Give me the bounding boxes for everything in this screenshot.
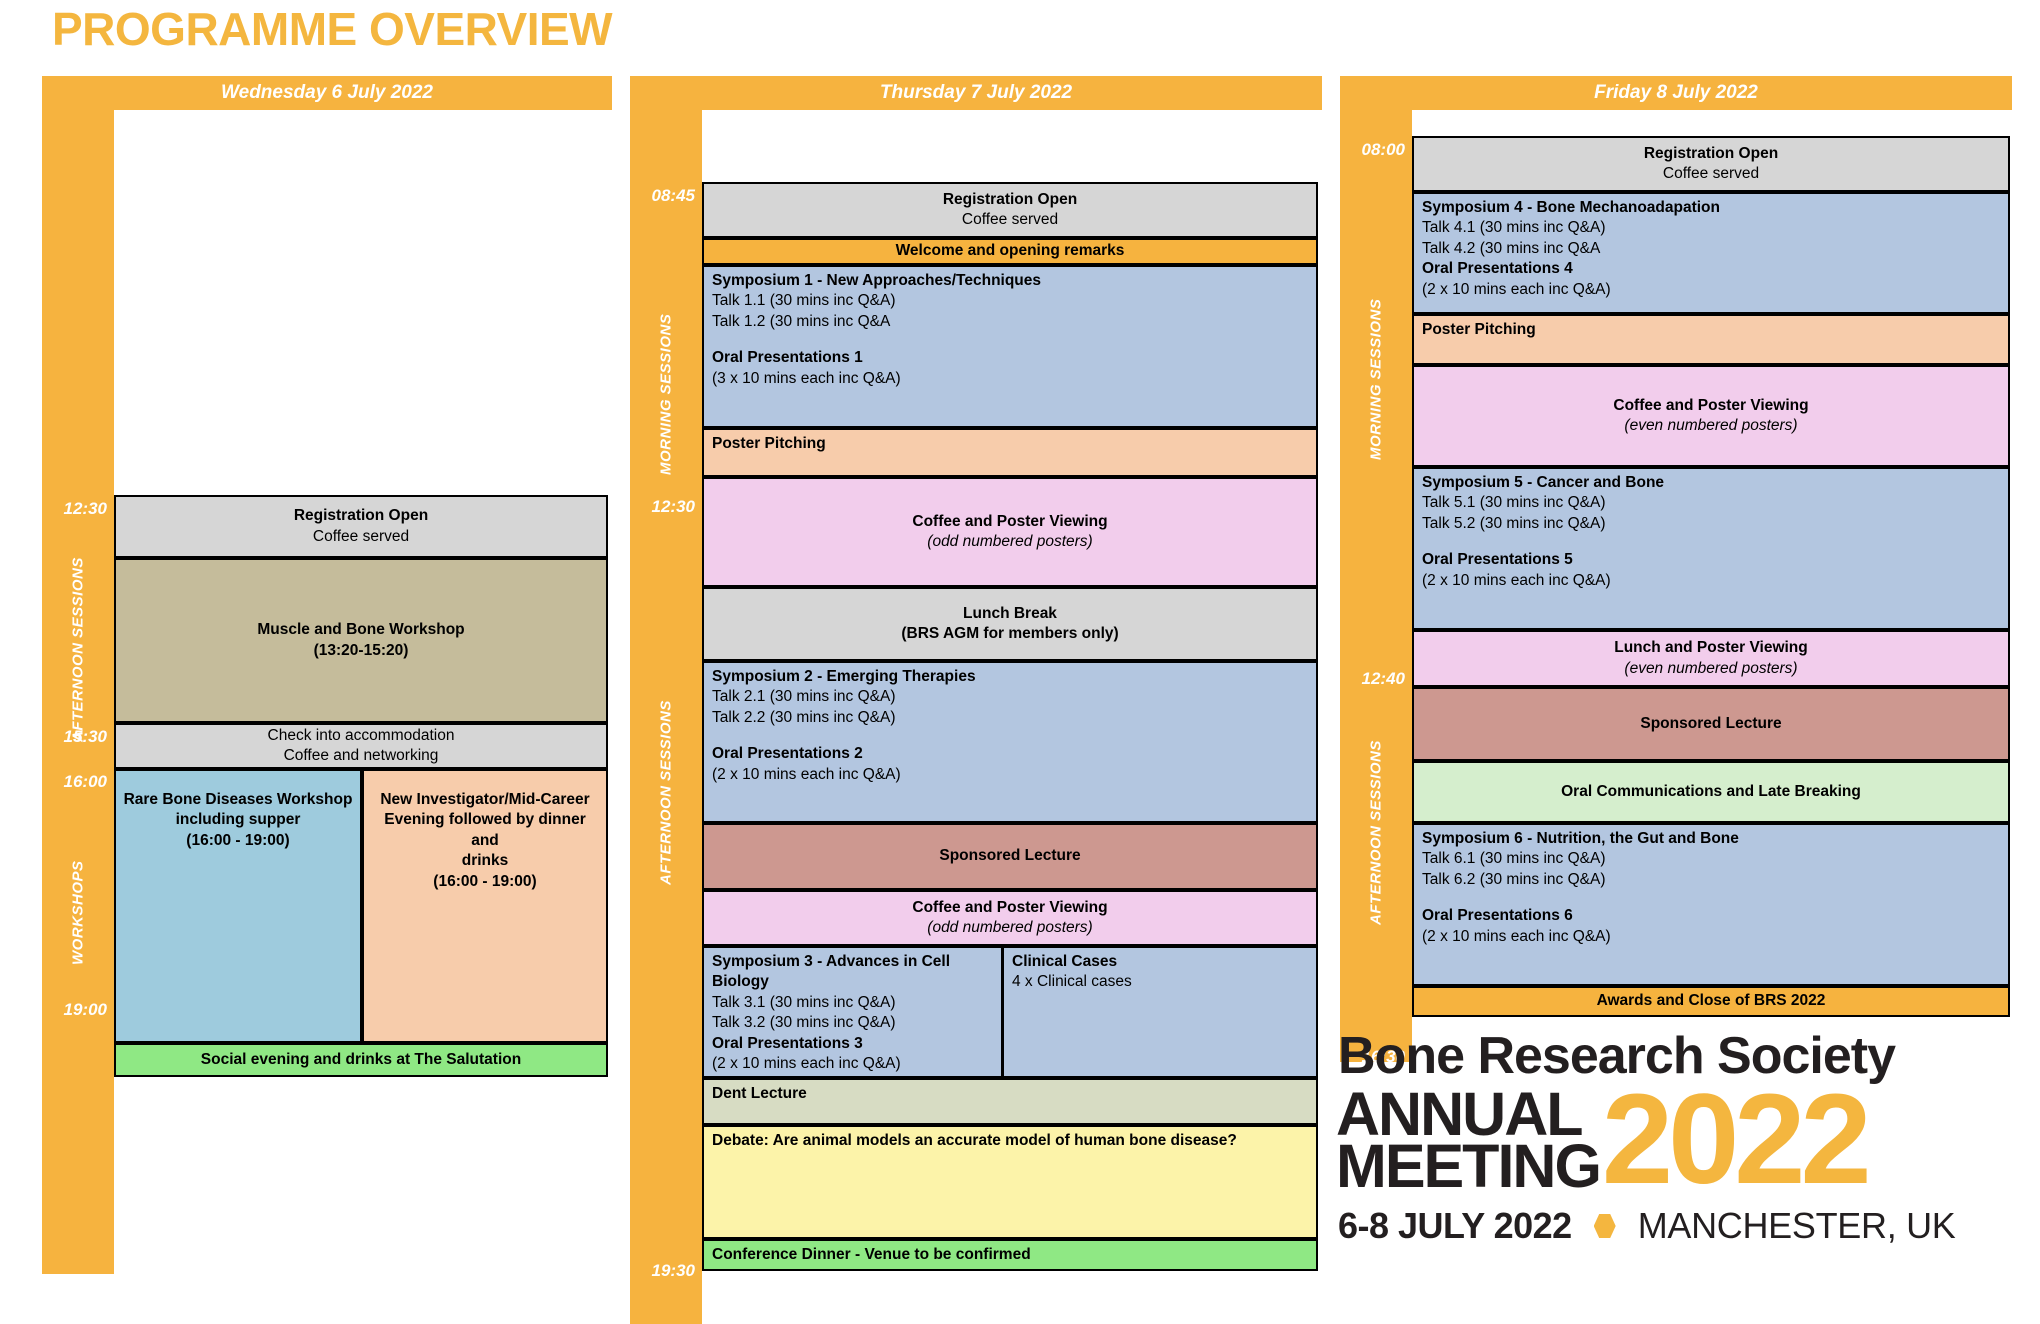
session-debate[interactable]: Debate: Are animal models an accurate mo… — [702, 1125, 1318, 1239]
session-talk-2: Talk 3.2 (30 mins inc Q&A) — [712, 1013, 995, 1033]
session-oral-title: Oral Presentations 4 — [1422, 259, 2002, 279]
session-title: Symposium 4 - Bone Mechanoadapation — [1422, 198, 2002, 218]
rail-label-afternoon-sessions: AFTERNOON SESSIONS — [1368, 730, 1385, 925]
session-rare-bone-diseases-workshop[interactable]: Rare Bone Diseases Workshop including su… — [114, 769, 362, 1043]
time-mark: 16:00 — [64, 772, 107, 792]
session-title: Sponsored Lecture — [939, 846, 1080, 866]
session-talk-1: Talk 4.1 (30 mins inc Q&A) — [1422, 218, 2002, 238]
session-title: Muscle and Bone Workshop — [257, 620, 464, 640]
session-oral-title: Oral Presentations 6 — [1422, 906, 2002, 926]
logo-year-text: 2022 — [1602, 1088, 1867, 1193]
session-oral-detail: (3 x 10 mins each inc Q&A) — [712, 369, 1310, 389]
brs-annual-meeting-logo: Bone Research Society ANNUAL MEETING 202… — [1330, 1030, 2020, 1300]
session-title: Sponsored Lecture — [1640, 714, 1781, 734]
rail-label-workshops: WORKSHOPS — [70, 800, 87, 965]
time-mark: 08:00 — [1362, 140, 1405, 160]
day-header-wednesday: Wednesday 6 July 2022 — [42, 76, 612, 110]
session-title: Dent Lecture — [712, 1084, 1310, 1104]
session-title: Coffee and Poster Viewing — [912, 512, 1107, 532]
session-sponsored-lecture[interactable]: Sponsored Lecture — [702, 823, 1318, 890]
session-check-into-accommodation[interactable]: Check into accommodation Coffee and netw… — [114, 723, 608, 769]
time-rail-wednesday: 12:30 15:30 16:00 19:00 AFTERNOON SESSIO… — [42, 110, 114, 1274]
session-line-3: drinks — [462, 851, 509, 871]
hexagon-bullet-icon — [1594, 1214, 1616, 1238]
session-spacer — [712, 728, 1310, 744]
session-subtitle: (odd numbered posters) — [927, 532, 1092, 552]
session-subtitle: (even numbered posters) — [1624, 659, 1797, 679]
session-dent-lecture[interactable]: Dent Lecture — [702, 1078, 1318, 1125]
session-line-2: Evening followed by dinner and — [370, 810, 600, 851]
session-line-2: including supper — [176, 810, 301, 830]
session-spacer — [1422, 890, 2002, 906]
session-awards-and-close[interactable]: Awards and Close of BRS 2022 — [1412, 986, 2010, 1017]
logo-meeting-words: ANNUAL MEETING — [1336, 1088, 1600, 1193]
session-symposium-6[interactable]: Symposium 6 - Nutrition, the Gut and Bon… — [1412, 823, 2010, 986]
session-title: Social evening and drinks at The Salutat… — [201, 1050, 521, 1070]
day-column-wednesday: Wednesday 6 July 2022 12:30 15:30 16:00 … — [42, 76, 612, 1274]
session-oral-title: Oral Presentations 5 — [1422, 550, 2002, 570]
session-title: Symposium 6 - Nutrition, the Gut and Bon… — [1422, 829, 2002, 849]
session-lunch-break[interactable]: Lunch Break (BRS AGM for members only) — [702, 587, 1318, 661]
session-title: Symposium 3 - Advances in Cell Biology — [712, 952, 995, 993]
time-mark: 08:45 — [652, 186, 695, 206]
session-poster-pitching[interactable]: Poster Pitching — [1412, 314, 2010, 365]
session-symposium-3[interactable]: Symposium 3 - Advances in Cell Biology T… — [702, 946, 1002, 1078]
session-registration-open[interactable]: Registration Open Coffee served — [114, 495, 608, 558]
session-subtitle: Coffee served — [313, 527, 409, 547]
session-title: Symposium 5 - Cancer and Bone — [1422, 473, 2002, 493]
session-title: Symposium 1 - New Approaches/Techniques — [712, 271, 1310, 291]
session-subtitle: (13:20-15:20) — [314, 641, 409, 661]
time-mark: 12:30 — [64, 499, 107, 519]
session-conference-dinner[interactable]: Conference Dinner - Venue to be confirme… — [702, 1239, 1318, 1271]
rail-label-morning-sessions: MORNING SESSIONS — [658, 300, 675, 475]
session-subtitle: (BRS AGM for members only) — [901, 624, 1118, 644]
day-body-wednesday: 12:30 15:30 16:00 19:00 AFTERNOON SESSIO… — [42, 110, 612, 1274]
time-rail-thursday: 08:45 12:30 19:30 MORNING SESSIONS AFTER… — [630, 110, 702, 1324]
session-oral-detail: (2 x 10 mins each inc Q&A) — [1422, 280, 2002, 300]
session-oral-detail: (2 x 10 mins each inc Q&A) — [1422, 927, 2002, 947]
time-mark: 19:00 — [64, 1000, 107, 1020]
session-line-1: Check into accommodation — [268, 726, 455, 746]
session-oral-title: Oral Presentations 2 — [712, 744, 1310, 764]
session-oral-detail: (2 x 10 mins each inc Q&A) — [712, 1054, 995, 1074]
session-symposium-1[interactable]: Symposium 1 - New Approaches/Techniques … — [702, 265, 1318, 428]
session-oral-detail: (2 x 10 mins each inc Q&A) — [1422, 571, 2002, 591]
session-talk-1: Talk 5.1 (30 mins inc Q&A) — [1422, 493, 2002, 513]
session-sponsored-lecture[interactable]: Sponsored Lecture — [1412, 687, 2010, 761]
session-clinical-cases[interactable]: Clinical Cases 4 x Clinical cases — [1002, 946, 1318, 1078]
session-talk-1: Talk 6.1 (30 mins inc Q&A) — [1422, 849, 2002, 869]
day-body-friday: 08:00 12:40 16:30 MORNING SESSIONS AFTER… — [1340, 110, 2012, 1062]
session-oral-title: Oral Presentations 1 — [712, 348, 1310, 368]
time-mark: 12:30 — [652, 497, 695, 517]
session-new-investigator-evening[interactable]: New Investigator/Mid-Career Evening foll… — [362, 769, 608, 1043]
session-muscle-and-bone-workshop[interactable]: Muscle and Bone Workshop (13:20-15:20) — [114, 558, 608, 723]
logo-meeting-text: MEETING — [1336, 1140, 1600, 1192]
session-title: Lunch and Poster Viewing — [1614, 638, 1808, 658]
session-subtitle: Coffee served — [1663, 164, 1759, 184]
session-title: Poster Pitching — [712, 434, 1310, 454]
schedule-thursday: Registration Open Coffee served Welcome … — [702, 110, 1322, 1324]
session-title: Coffee and Poster Viewing — [1613, 396, 1808, 416]
session-coffee-and-poster-viewing-odd-2[interactable]: Coffee and Poster Viewing (odd numbered … — [702, 890, 1318, 946]
day-column-thursday: Thursday 7 July 2022 08:45 12:30 19:30 M… — [630, 76, 1322, 1324]
session-title: Registration Open — [1644, 144, 1778, 164]
session-talk-2: Talk 6.2 (30 mins inc Q&A) — [1422, 870, 2002, 890]
session-title: Clinical Cases — [1012, 952, 1310, 972]
session-coffee-and-poster-viewing-odd[interactable]: Coffee and Poster Viewing (odd numbered … — [702, 477, 1318, 587]
session-social-evening[interactable]: Social evening and drinks at The Salutat… — [114, 1043, 608, 1077]
session-line-3: (16:00 - 19:00) — [186, 831, 289, 851]
session-title: Welcome and opening remarks — [896, 241, 1125, 261]
session-line-4: (16:00 - 19:00) — [433, 872, 536, 892]
session-oral-communications-late-breaking[interactable]: Oral Communications and Late Breaking — [1412, 761, 2010, 823]
session-oral-title: Oral Presentations 3 — [712, 1034, 995, 1054]
session-title: Registration Open — [943, 190, 1077, 210]
session-title: Symposium 2 - Emerging Therapies — [712, 667, 1310, 687]
session-talk-1: Talk 2.1 (30 mins inc Q&A) — [712, 687, 1310, 707]
session-talk-2: Talk 1.2 (30 mins inc Q&A — [712, 312, 1310, 332]
logo-dates-row: 6-8 JULY 2022 MANCHESTER, UK — [1338, 1205, 2020, 1247]
page-title: PROGRAMME OVERVIEW — [52, 2, 612, 56]
day-header-thursday: Thursday 7 July 2022 — [630, 76, 1322, 110]
time-mark: 12:40 — [1362, 669, 1405, 689]
session-spacer — [712, 332, 1310, 348]
session-title: Awards and Close of BRS 2022 — [1597, 991, 1826, 1011]
day-header-friday: Friday 8 July 2022 — [1340, 76, 2012, 110]
time-mark: 19:30 — [652, 1261, 695, 1281]
session-title: Registration Open — [294, 506, 428, 526]
rail-label-morning-sessions: MORNING SESSIONS — [1368, 285, 1385, 460]
logo-dates-text: 6-8 JULY 2022 — [1338, 1205, 1572, 1247]
session-welcome-and-opening-remarks[interactable]: Welcome and opening remarks — [702, 238, 1318, 265]
session-title: Oral Communications and Late Breaking — [1561, 782, 1861, 802]
session-lunch-and-poster-viewing[interactable]: Lunch and Poster Viewing (even numbered … — [1412, 630, 2010, 687]
day-body-thursday: 08:45 12:30 19:30 MORNING SESSIONS AFTER… — [630, 110, 1322, 1324]
session-oral-detail: (2 x 10 mins each inc Q&A) — [712, 765, 1310, 785]
session-subtitle: Coffee served — [962, 210, 1058, 230]
session-talk-2: Talk 2.2 (30 mins inc Q&A) — [712, 708, 1310, 728]
rail-label-afternoon-sessions: AFTERNOON SESSIONS — [658, 690, 675, 885]
day-column-friday: Friday 8 July 2022 08:00 12:40 16:30 MOR… — [1340, 76, 2012, 1062]
logo-meeting-row: ANNUAL MEETING 2022 — [1330, 1088, 2020, 1193]
session-spacer — [1422, 534, 2002, 550]
session-symposium-4[interactable]: Symposium 4 - Bone Mechanoadapation Talk… — [1412, 192, 2010, 314]
session-talk-1: Talk 3.1 (30 mins inc Q&A) — [712, 993, 995, 1013]
session-title: Conference Dinner - Venue to be confirme… — [712, 1245, 1310, 1265]
session-title: Coffee and Poster Viewing — [912, 898, 1107, 918]
session-symposium-5[interactable]: Symposium 5 - Cancer and Bone Talk 5.1 (… — [1412, 467, 2010, 630]
session-line-1: 4 x Clinical cases — [1012, 972, 1310, 992]
rail-label-afternoon-sessions: AFTERNOON SESSIONS — [70, 552, 87, 742]
session-talk-2: Talk 5.2 (30 mins inc Q&A) — [1422, 514, 2002, 534]
session-talk-2: Talk 4.2 (30 mins inc Q&A — [1422, 239, 2002, 259]
session-line-1: New Investigator/Mid-Career — [380, 790, 589, 810]
time-rail-friday: 08:00 12:40 16:30 MORNING SESSIONS AFTER… — [1340, 110, 1412, 1062]
session-title: Poster Pitching — [1422, 320, 2002, 340]
session-poster-pitching[interactable]: Poster Pitching — [702, 428, 1318, 477]
session-line-2: Coffee and networking — [284, 746, 439, 766]
schedule-wednesday: Registration Open Coffee served Muscle a… — [114, 110, 612, 1274]
session-subtitle: (even numbered posters) — [1624, 416, 1797, 436]
session-symposium-2[interactable]: Symposium 2 - Emerging Therapies Talk 2.… — [702, 661, 1318, 823]
session-coffee-and-poster-viewing-even[interactable]: Coffee and Poster Viewing (even numbered… — [1412, 365, 2010, 467]
session-registration-open[interactable]: Registration Open Coffee served — [1412, 136, 2010, 192]
logo-city-text: MANCHESTER, UK — [1638, 1205, 1956, 1247]
schedule-friday: Registration Open Coffee served Symposiu… — [1412, 110, 2012, 1062]
session-title: Lunch Break — [963, 604, 1057, 624]
session-line-1: Rare Bone Diseases Workshop — [124, 790, 353, 810]
session-title: Debate: Are animal models an accurate mo… — [712, 1131, 1310, 1151]
session-registration-open[interactable]: Registration Open Coffee served — [702, 182, 1318, 238]
session-subtitle: (odd numbered posters) — [927, 918, 1092, 938]
session-talk-1: Talk 1.1 (30 mins inc Q&A) — [712, 291, 1310, 311]
